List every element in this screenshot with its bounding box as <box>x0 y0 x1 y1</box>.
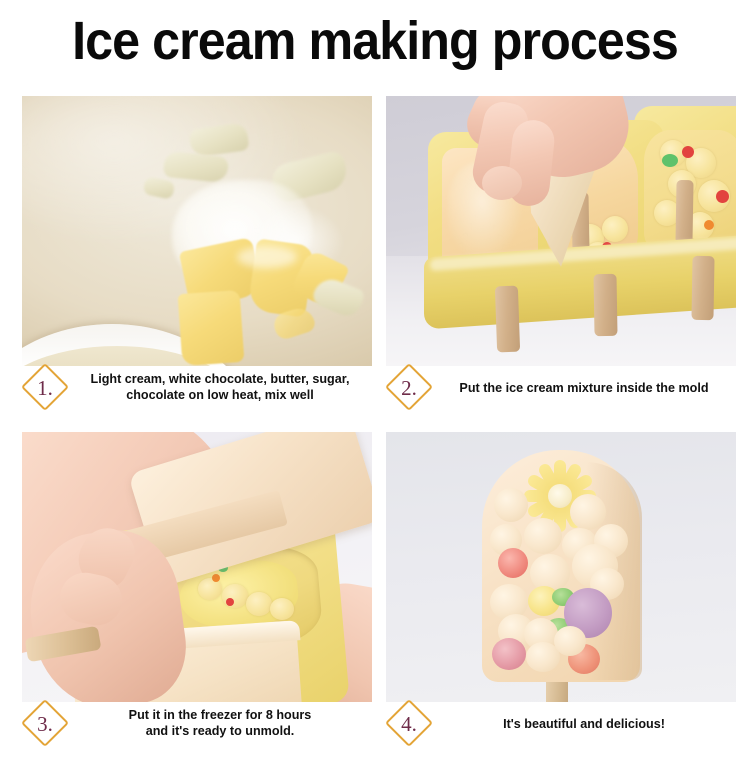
cream-flower <box>524 518 562 554</box>
red-decoration-dot <box>682 146 694 158</box>
cream-flower <box>570 494 606 530</box>
step-card-2: 2. Put the ice cream mixture inside the … <box>386 96 736 428</box>
butter-highlight <box>237 246 297 268</box>
sunflower-center <box>548 484 572 508</box>
popsicle-stick-slot-1 <box>495 286 520 353</box>
page-title: Ice cream making process <box>26 8 724 74</box>
steps-grid: 1. Light cream, white chocolate, butter,… <box>0 96 750 750</box>
step-1-caption: Light cream, white chocolate, butter, su… <box>68 368 372 403</box>
cream-flower <box>494 488 528 522</box>
hand-thumb-tip <box>482 166 522 200</box>
step-4-number: 4. <box>390 708 428 740</box>
step-1-caption-line-1: Light cream, white chocolate, butter, su… <box>68 371 372 387</box>
red-decoration-dot <box>716 190 729 203</box>
step-card-1: 1. Light cream, white chocolate, butter,… <box>22 96 372 428</box>
step-3-caption: Put it in the freezer for 8 hours and it… <box>68 704 372 739</box>
green-decoration-dot <box>662 154 678 167</box>
step-4-caption: It's beautiful and delicious! <box>432 704 736 732</box>
step-2-caption-row: 2. Put the ice cream mixture inside the … <box>386 368 736 428</box>
rose-flower <box>492 638 526 670</box>
step-4-photo <box>386 432 736 702</box>
step-3-caption-line-1: Put it in the freezer for 8 hours <box>68 707 372 723</box>
red-decoration-dot <box>226 598 234 606</box>
step-card-4: 4. It's beautiful and delicious! <box>386 432 736 764</box>
popsicle-stick-inserted <box>675 180 693 244</box>
step-3-caption-row: 3. Put it in the freezer for 8 hours and… <box>22 704 372 764</box>
step-2-caption: Put the ice cream mixture inside the mol… <box>432 368 736 396</box>
step-4-caption-row: 4. It's beautiful and delicious! <box>386 704 736 764</box>
step-card-3: 3. Put it in the freezer for 8 hours and… <box>22 432 372 764</box>
floret <box>270 598 294 620</box>
floret <box>198 578 222 600</box>
popsicle-stick-slot-3 <box>691 256 714 320</box>
step-1-caption-line-2: chocolate on low heat, mix well <box>68 387 372 403</box>
floret <box>246 592 272 616</box>
orange-decoration-dot <box>212 574 220 582</box>
orange-decoration-dot <box>704 220 714 230</box>
step-1-caption-row: 1. Light cream, white chocolate, butter,… <box>22 368 372 428</box>
step-3-photo <box>22 432 372 702</box>
step-2-caption-line-1: Put the ice cream mixture inside the mol… <box>432 380 736 396</box>
step-1-photo <box>22 96 372 366</box>
step-1-number: 1. <box>26 372 64 404</box>
step-4-caption-line-1: It's beautiful and delicious! <box>432 716 736 732</box>
butter-chunk <box>178 290 245 366</box>
step-3-number: 3. <box>26 708 64 740</box>
step-2-number: 2. <box>390 372 428 404</box>
step-3-caption-line-2: and it's ready to unmold. <box>68 723 372 739</box>
step-2-photo <box>386 96 736 366</box>
popsicle-stick-slot-2 <box>593 274 617 336</box>
cream-flower <box>554 626 586 656</box>
pink-flower <box>498 548 528 578</box>
ice-cream-process-infographic: Ice cream making process <box>0 0 750 750</box>
floret <box>602 216 628 242</box>
